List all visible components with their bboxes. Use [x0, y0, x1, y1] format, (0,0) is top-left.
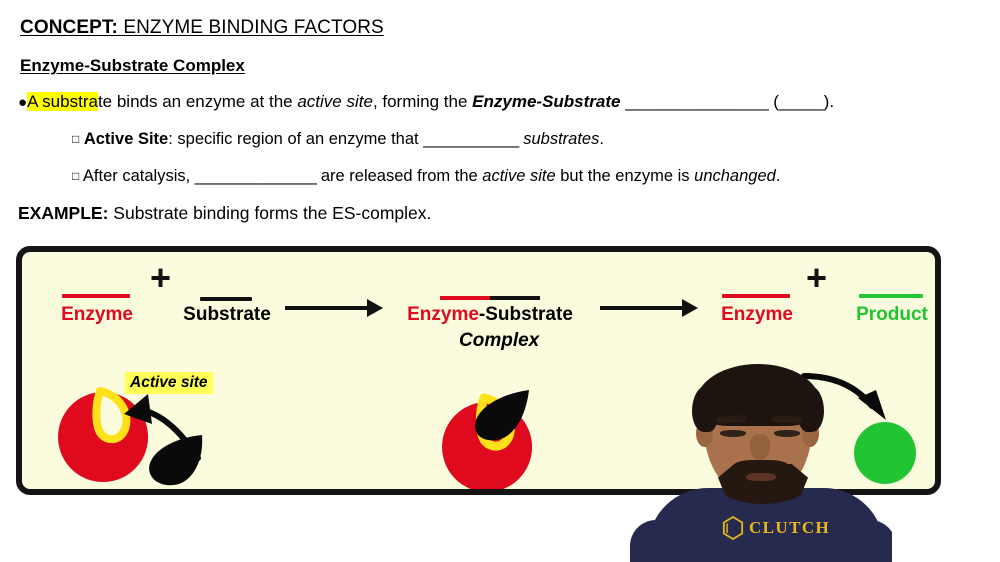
substrate-underline [200, 297, 252, 301]
example-line: EXAMPLE: Substrate binding forms the ES-… [18, 203, 431, 224]
bullet-text-d: ). [824, 92, 834, 111]
highlighted-phrase: A substra [27, 92, 98, 111]
clutch-wordmark: CLUTCH [749, 518, 830, 538]
example-label: EXAMPLE: [18, 203, 108, 223]
bullet-enzyme-substrate: ●A substrate binds an enzyme at the acti… [18, 92, 834, 112]
binding-arrow [90, 392, 220, 472]
subbullet2-text-a: After catalysis, [79, 167, 195, 185]
fill-blank-long: ________________ [625, 92, 768, 111]
subbullet-active-site: □ Active Site: specific region of an enz… [72, 130, 604, 149]
italic-active-site: active site [297, 92, 373, 111]
example-text: Substrate binding forms the ES-complex. [108, 203, 431, 223]
subbullet2-text-c: but the enzyme is [556, 167, 695, 185]
product-label: Product [844, 304, 940, 326]
concept-title: ENZYME BINDING FACTORS [123, 17, 384, 38]
enzyme-underline-product [722, 294, 790, 298]
italic-active-site: active site [482, 167, 555, 185]
concept-heading: CONCEPT: ENZYME BINDING FACTORS [20, 17, 384, 39]
product-shape [854, 422, 916, 484]
enzyme-substrate-complex-label: Enzyme-Substrate [390, 304, 590, 326]
substrate-label: Substrate [172, 304, 282, 326]
shirt [648, 488, 884, 562]
reaction-diagram-panel: Enzyme + Substrate Active site Enzyme-Su… [16, 246, 941, 495]
concept-label: CONCEPT: [20, 17, 118, 38]
italic-substrates: substrates [523, 130, 599, 148]
plus-sign-reactants: + [150, 260, 171, 296]
bullet-text-a: te binds an enzyme at the [98, 92, 297, 111]
enzyme-substrate-complex-shape [432, 390, 562, 495]
reaction-arrow-1[interactable] [285, 299, 383, 317]
subbullet1-text-c: . [599, 130, 604, 148]
bullet-text-c: ( [769, 92, 779, 111]
complex-underline [440, 296, 540, 300]
plus-sign-products: + [806, 260, 827, 296]
enzyme-label-reactant: Enzyme [52, 304, 142, 326]
fill-blank-products: ______________ [195, 167, 316, 185]
product-underline [859, 294, 923, 298]
term-active-site: Active Site [84, 130, 168, 148]
subbullet2-text-d: . [776, 167, 781, 185]
italic-unchanged: unchanged [694, 167, 776, 185]
enzyme-underline [62, 294, 130, 298]
shoulder-left [630, 520, 700, 562]
bullet-marker: ● [18, 94, 27, 111]
clutch-shirt-logo: CLUTCH [722, 516, 830, 540]
bullet-text-b: , forming the [373, 92, 472, 111]
fill-blank-verb: ___________ [423, 130, 518, 148]
subbullet-after-catalysis: □ After catalysis, ______________ are re… [72, 167, 780, 186]
bold-enzyme-substrate: Enzyme-Substrate [472, 92, 620, 111]
subbullet1-text-a: : specific region of an enzyme that [168, 130, 423, 148]
section-heading: Enzyme-Substrate Complex [20, 56, 245, 76]
reaction-arrow-2[interactable] [600, 299, 698, 317]
fill-blank-short: _____ [779, 92, 824, 111]
square-bullet-icon: □ [72, 132, 79, 146]
enzyme-label-product: Enzyme [712, 304, 802, 326]
complex-label-line2: Complex [459, 330, 539, 352]
shoulder-right [826, 520, 892, 562]
hexagon-icon [722, 516, 744, 540]
subbullet2-text-b: are released from the [316, 167, 482, 185]
